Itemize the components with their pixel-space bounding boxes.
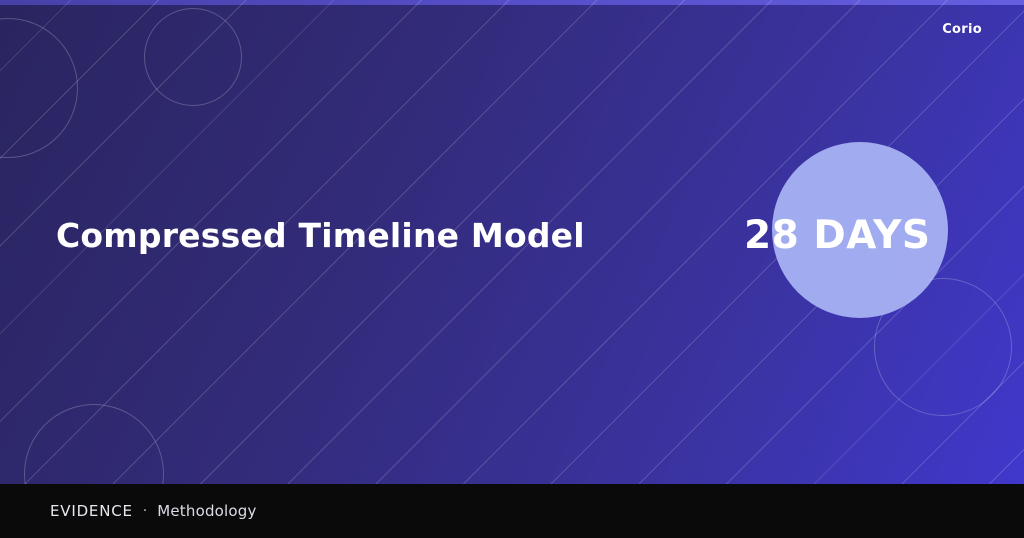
footer-label: Methodology: [157, 502, 256, 520]
decorative-circle-outline: [144, 8, 242, 106]
slide-title: Compressed Timeline Model: [56, 216, 585, 255]
footer-kicker: EVIDENCE: [50, 502, 133, 520]
footer-separator: ·: [143, 503, 147, 519]
stat-value: 28 DAYS: [744, 213, 931, 258]
decorative-circle-outline: [0, 18, 78, 158]
footer-content: EVIDENCE · Methodology: [50, 484, 257, 538]
brand-logo-text: Corio: [942, 22, 982, 37]
top-accent-strip: [0, 0, 1024, 5]
footer-bar: EVIDENCE · Methodology: [0, 484, 1024, 538]
presentation-slide: Corio Compressed Timeline Model 28 DAYS …: [0, 0, 1024, 538]
